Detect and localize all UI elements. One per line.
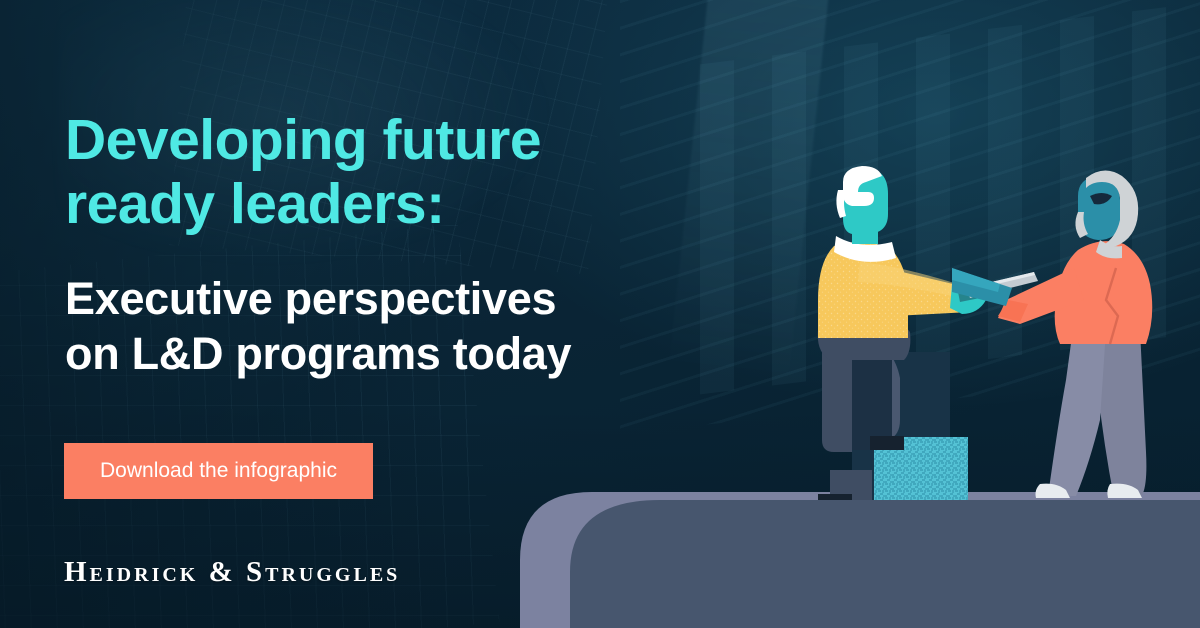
subheadline-line-1: Executive perspectives [65,272,745,327]
subheadline-line-2: on L&D programs today [65,327,745,382]
headline-line-1: Developing future [65,108,705,172]
headline: Developing future ready leaders: [65,108,705,237]
right-figure [952,170,1152,498]
headline-line-2: ready leaders: [65,172,705,236]
download-infographic-button[interactable]: Download the infographic [64,443,373,499]
platform-front [570,500,1200,628]
marketing-banner: Developing future ready leaders: Executi… [0,0,1200,628]
subheadline: Executive perspectives on L&D programs t… [65,272,745,382]
heidrick-struggles-logo: Heidrick & Struggles [64,556,400,589]
